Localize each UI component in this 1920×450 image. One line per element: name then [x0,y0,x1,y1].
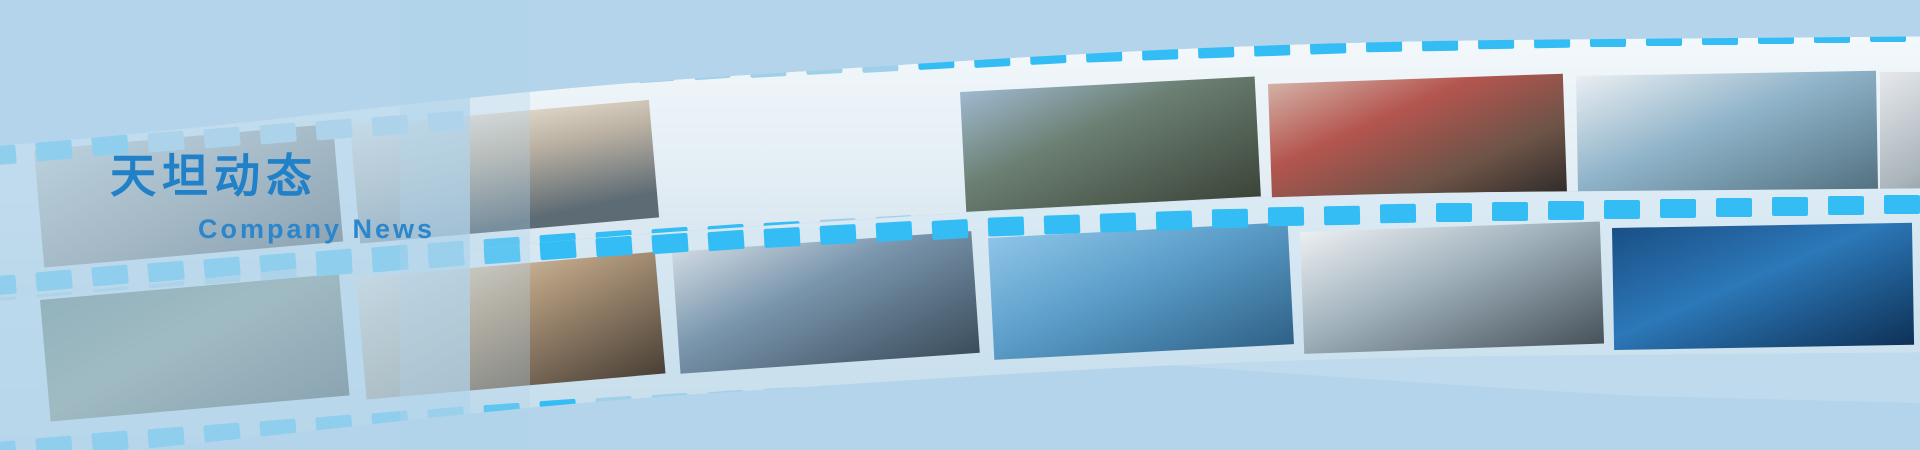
sprocket-hole [1380,204,1416,224]
sprocket-hole [862,52,899,73]
company-news-banner: 天坦动态 Company News [0,0,1920,450]
sprocket-hole [1814,24,1850,43]
photo-frame [1300,222,1604,354]
sprocket-hole [1100,372,1137,392]
sprocket-hole [750,57,787,78]
sprocket-hole [1590,28,1626,47]
photo-frame [1612,223,1914,350]
sprocket-hole [1870,23,1906,42]
sprocket-hole [1310,34,1347,54]
sprocket-hole [1758,25,1794,44]
sprocket-hole [932,379,969,400]
sprocket-hole [637,62,674,83]
page-subtitle: Company News [198,214,530,245]
sprocket-hole [693,59,730,80]
sprocket-hole [1366,33,1402,53]
sprocket-hole [595,396,632,417]
sprocket-hole [525,68,562,89]
photo-frame [672,231,980,374]
sprocket-hole [876,381,913,402]
photo-frame [1268,74,1567,204]
sprocket-hole [1604,200,1640,219]
sprocket-hole [1828,196,1864,215]
sprocket-hole [1702,26,1738,45]
sprocket-hole [1884,195,1920,214]
sprocket-hole [1772,197,1808,216]
sprocket-hole [707,390,744,411]
sprocket-hole [1030,44,1067,65]
sprocket-hole [1660,199,1696,218]
sprocket-hole [1716,198,1752,217]
sprocket-hole [1156,370,1193,390]
sprocket-hole [1142,40,1179,60]
sprocket-hole [932,219,969,240]
sprocket-hole [1156,210,1193,230]
photo-frame [960,77,1261,212]
sprocket-hole [651,233,688,254]
sprocket-hole [1492,202,1528,221]
sprocket-hole [1646,27,1682,46]
sprocket-hole [820,384,857,405]
sprocket-hole [764,387,801,408]
sprocket-hole [1044,214,1081,234]
sprocket-hole [974,47,1011,68]
sprocket-hole [1086,42,1123,62]
sprocket-hole [1422,32,1458,52]
sprocket-hole [988,376,1025,396]
sprocket-hole [876,221,913,242]
sprocket-hole [539,399,576,420]
sprocket-hole [1198,38,1235,58]
sprocket-hole [581,65,618,86]
sprocket-hole [1268,207,1304,227]
sprocket-hole [988,216,1025,236]
sprocket-hole [1212,209,1248,229]
sprocket-hole [764,227,801,248]
photo-frame [1576,71,1878,198]
sprocket-hole [820,224,857,245]
sprocket-hole [1212,369,1248,389]
sprocket-hole [595,236,632,257]
photo-frame [988,222,1294,360]
photo-frame [1880,72,1920,194]
sprocket-hole [1044,374,1081,394]
sprocket-hole [707,230,744,251]
sprocket-hole [1100,212,1137,232]
sprocket-hole [1478,30,1514,50]
sprocket-hole [1534,29,1570,49]
page-title: 天坦动态 [110,152,530,200]
sprocket-hole [1254,36,1291,56]
sprocket-hole [1436,203,1472,222]
sprocket-hole [806,54,843,75]
sprocket-hole [1548,201,1584,220]
sprocket-hole [918,49,955,70]
sprocket-hole [1324,206,1360,226]
banner-text-block: 天坦动态 Company News [110,152,530,245]
sprocket-hole [651,393,688,414]
